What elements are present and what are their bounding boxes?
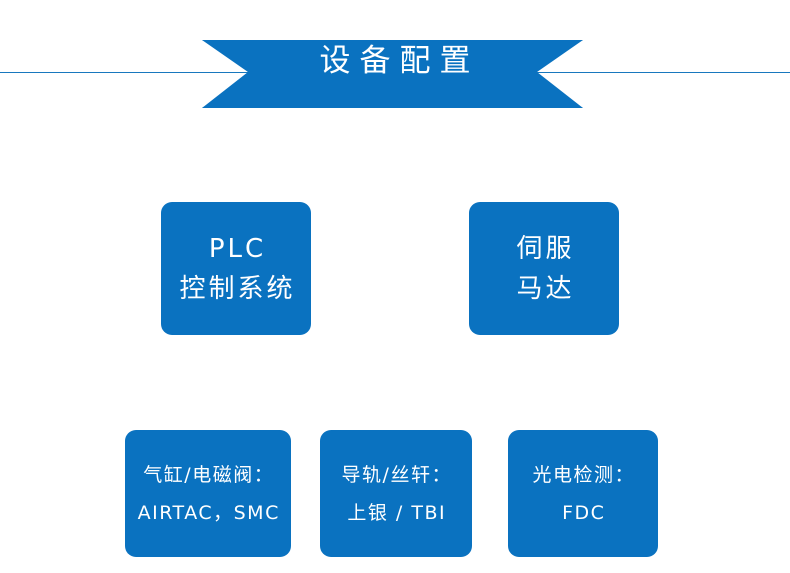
cylinder-solenoid-valve-card[interactable]: 气缸/电磁阀： AIRTAC，SMC bbox=[125, 430, 291, 557]
photoelectric-detection-card[interactable]: 光电检测： FDC bbox=[508, 430, 658, 557]
card-line-secondary: 控制系统 bbox=[176, 269, 295, 309]
card-line-value: 上银 / TBI bbox=[346, 494, 446, 532]
servo-motor-card[interactable]: 伺服 马达 bbox=[469, 202, 619, 335]
banner-header: 设备配置 bbox=[0, 0, 790, 120]
card-line-primary: 伺服 bbox=[513, 229, 574, 269]
card-line-label: 光电检测： bbox=[531, 456, 635, 494]
card-line-label: 导轨/丝轩： bbox=[340, 456, 452, 494]
card-line-secondary: 马达 bbox=[513, 269, 574, 309]
guide-rail-screw-card[interactable]: 导轨/丝轩： 上银 / TBI bbox=[320, 430, 472, 557]
plc-control-system-card[interactable]: PLC 控制系统 bbox=[161, 202, 311, 335]
card-line-value: AIRTAC，SMC bbox=[136, 494, 280, 532]
card-line-value: FDC bbox=[561, 494, 606, 532]
banner-title: 设备配置 bbox=[0, 44, 790, 78]
card-line-primary: PLC bbox=[206, 229, 266, 269]
card-line-label: 气缸/电磁阀： bbox=[142, 456, 274, 494]
